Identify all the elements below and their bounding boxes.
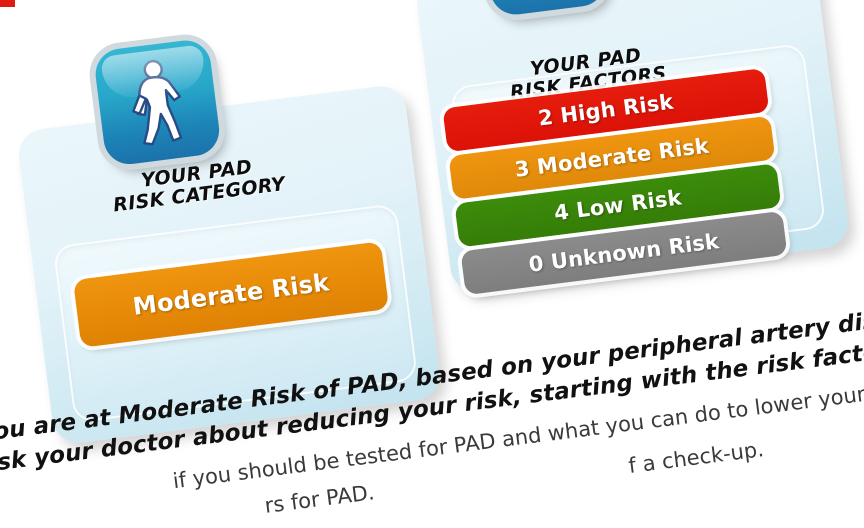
- summary-light-line-2: rs for PAD.: [263, 478, 376, 521]
- summary-light-line-3: f a check-up.: [627, 435, 766, 482]
- red-corner-marker: [0, 0, 15, 7]
- rotated-content-group: YOUR PAD RISK CATEGORY Moderate Risk: [0, 0, 864, 528]
- walking-person-icon: [93, 37, 223, 167]
- report-canvas: YOUR PAD RISK CATEGORY Moderate Risk: [0, 0, 864, 528]
